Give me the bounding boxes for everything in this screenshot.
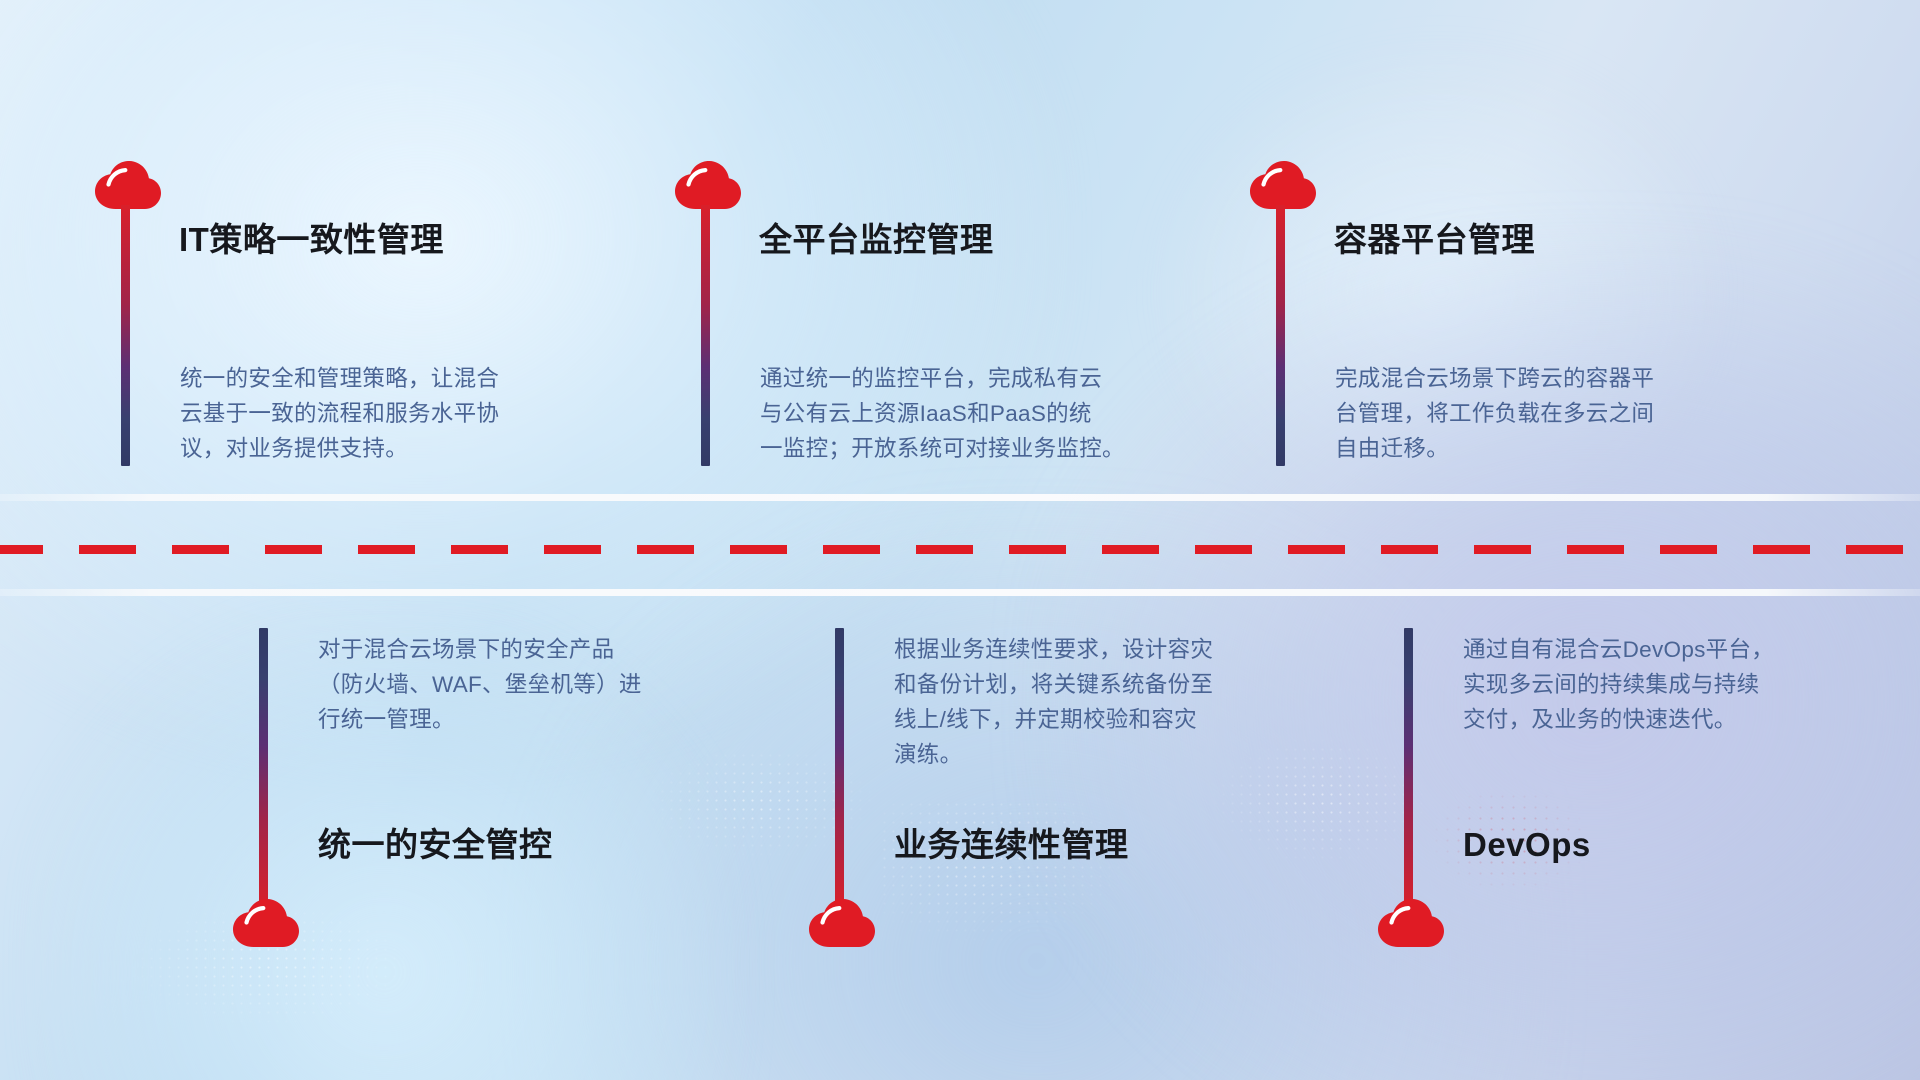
card-title-container: 容器平台管理 [1334,220,1535,260]
divider-dash [1009,545,1066,554]
card-title-devops: DevOps [1463,825,1591,865]
card-title-continuity: 业务连续性管理 [894,825,1129,865]
connector-bar [1404,628,1413,909]
divider-dash [451,545,508,554]
connector-bar [259,628,268,909]
connector-bar [121,205,130,466]
card-body-devops: 通过自有混合云DevOps平台， 实现多云间的持续集成与持续 交付，及业务的快速… [1463,632,1893,737]
divider-line-bottom [0,589,1920,596]
divider-dash [79,545,136,554]
cloud-icon [1249,160,1317,210]
particle-texture [880,800,1140,950]
divider-dash [1474,545,1531,554]
card-title-it-policy: IT策略一致性管理 [179,220,444,260]
cloud-icon [1377,898,1445,948]
particle-texture [640,742,880,862]
card-body-container: 完成混合云场景下跨云的容器平 台管理，将工作负载在多云之间 自由迁移。 [1335,361,1765,466]
divider-dash [172,545,229,554]
divider-dash [0,545,43,554]
card-body-it-policy: 统一的安全和管理策略，让混合 云基于一致的流程和服务水平协 议，对业务提供支持。 [180,361,610,466]
divider-dash [265,545,322,554]
divider-dashed-red [0,545,1920,554]
divider-dash [1846,545,1903,554]
divider-dash [1102,545,1159,554]
divider-dash [823,545,880,554]
connector-bar [701,205,710,466]
card-title-monitoring: 全平台监控管理 [759,220,994,260]
divider-dash [1195,545,1252,554]
cloud-icon [808,898,876,948]
card-body-security: 对于混合云场景下的安全产品 （防火墙、WAF、堡垒机等）进 行统一管理。 [318,632,748,737]
divider-dash [1381,545,1438,554]
divider-dash [1660,545,1717,554]
divider-dash [1288,545,1345,554]
divider-dash [358,545,415,554]
connector-bar [1276,205,1285,466]
divider-line-top [0,494,1920,501]
divider-dash [637,545,694,554]
divider-dash [916,545,973,554]
cloud-icon [232,898,300,948]
connector-bar [835,628,844,909]
cloud-icon [674,160,742,210]
divider-dash [730,545,787,554]
card-title-security: 统一的安全管控 [318,825,553,865]
card-body-continuity: 根据业务连续性要求，设计容灾 和备份计划，将关键系统备份至 线上/线下，并定期校… [894,632,1334,772]
divider-dash [1567,545,1624,554]
cloud-icon [94,160,162,210]
card-body-monitoring: 通过统一的监控平台，完成私有云 与公有云上资源IaaS和PaaS的统 一监控；开… [760,361,1210,466]
divider-dash [1753,545,1810,554]
infographic-canvas: IT策略一致性管理 统一的安全和管理策略，让混合 云基于一致的流程和服务水平协 … [0,0,1920,1080]
divider-dash [544,545,601,554]
